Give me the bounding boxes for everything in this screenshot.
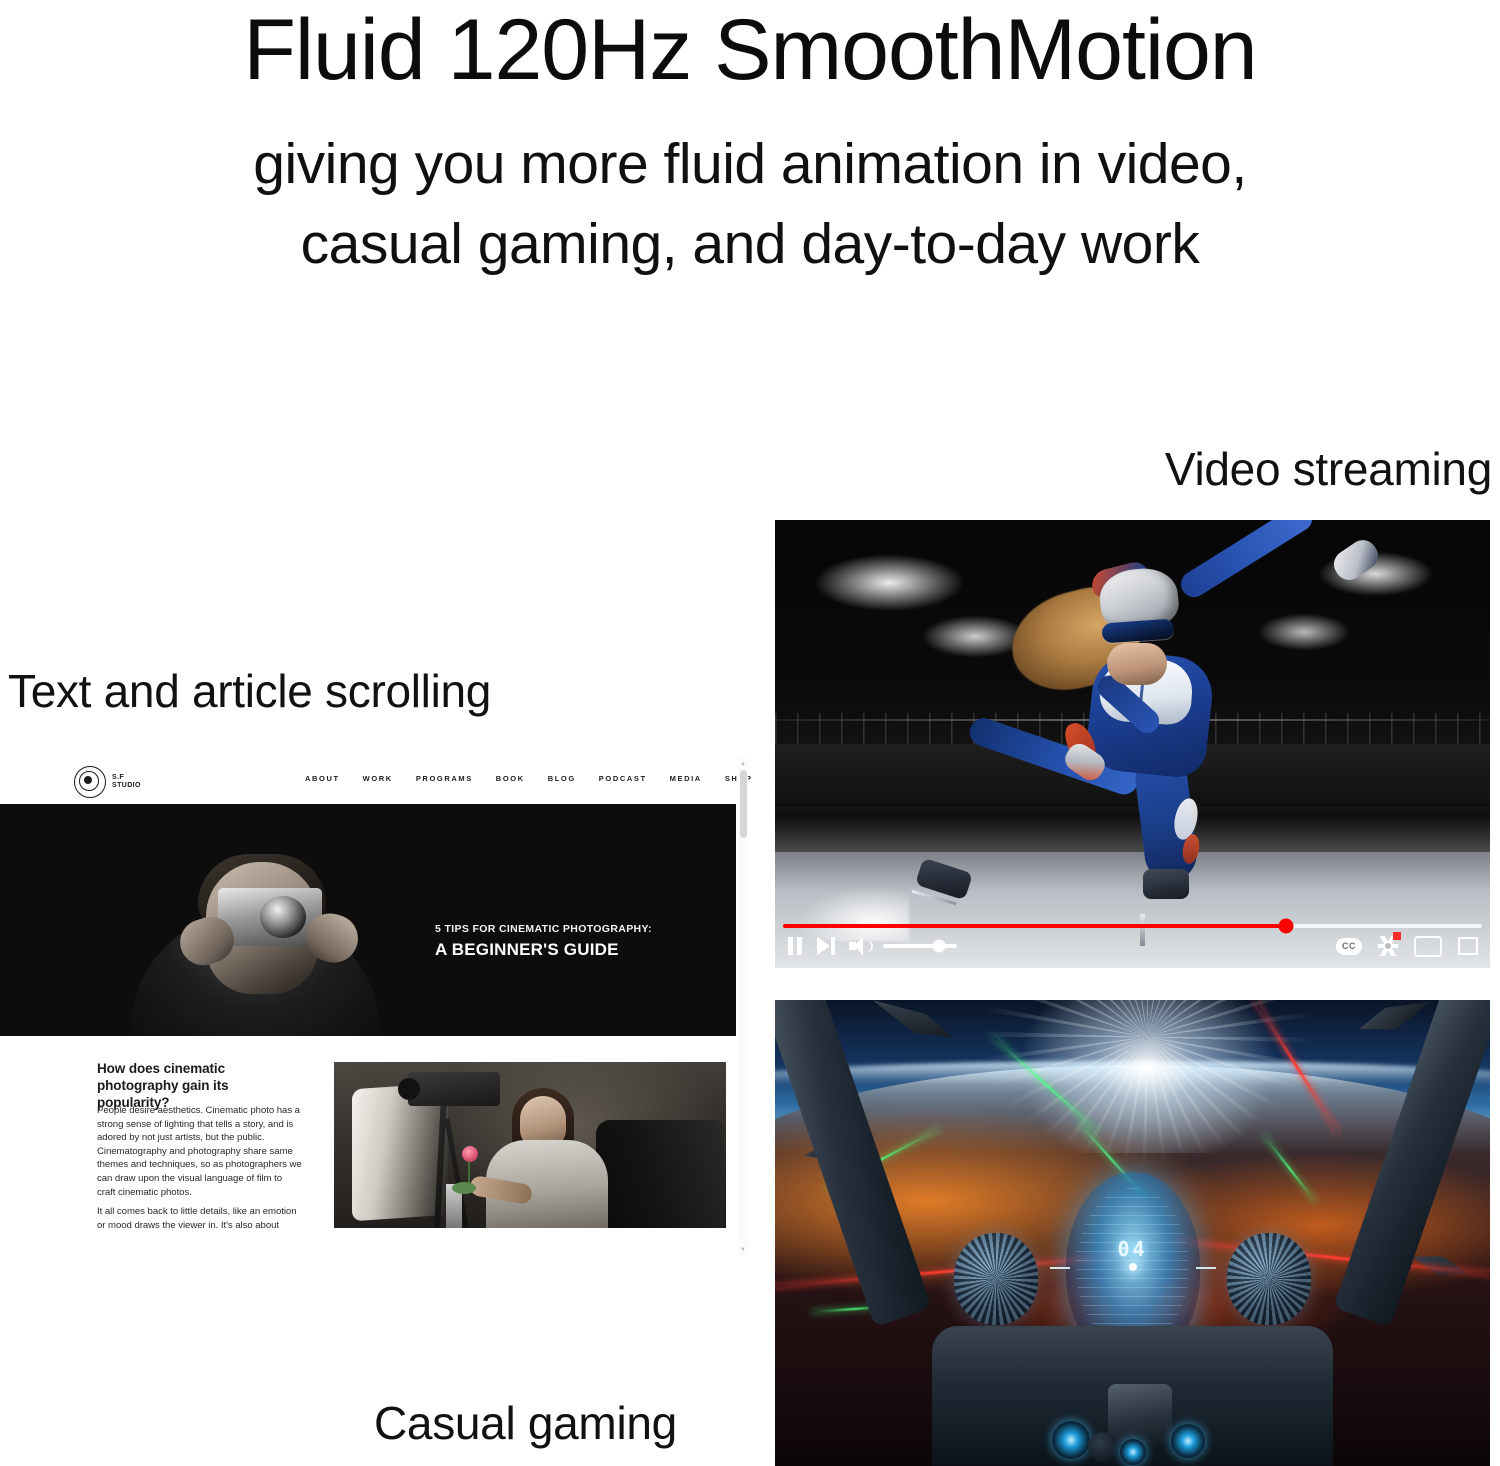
- page-subtitle: giving you more fluid animation in video…: [0, 124, 1500, 284]
- miniplayer-icon[interactable]: [1414, 936, 1442, 957]
- cockpit-pod-right: [1227, 1233, 1311, 1325]
- volume-slider[interactable]: [883, 944, 957, 948]
- caption-video-streaming: Video streaming: [1165, 442, 1492, 496]
- dashboard-dial-1: [1052, 1421, 1090, 1459]
- page-subtitle-line-1: giving you more fluid animation in video…: [0, 124, 1500, 204]
- fullscreen-corner-bl: [1458, 945, 1468, 955]
- closed-captions-icon[interactable]: CC: [1336, 938, 1362, 955]
- video-controls-left: [787, 937, 957, 955]
- skater-raised-glove: [1328, 534, 1383, 585]
- scrollbar-thumb[interactable]: [740, 770, 747, 838]
- volume-wave-icon: [864, 940, 873, 952]
- volume-slider-handle[interactable]: [932, 940, 945, 953]
- site-logo[interactable]: S.F STUDIO: [74, 766, 141, 798]
- site-nav-links: ABOUT WORK PROGRAMS BOOK BLOG PODCAST ME…: [305, 774, 752, 783]
- camera-lens: [260, 896, 306, 938]
- nav-item-about[interactable]: ABOUT: [305, 774, 340, 783]
- skater-goggles: [1102, 618, 1175, 643]
- dashboard-dial-4: [1120, 1439, 1146, 1465]
- scroll-up-arrow-icon[interactable]: ▲: [740, 761, 746, 767]
- concentric-circle-logo-icon: [74, 766, 106, 798]
- softbox-light-right: [596, 1120, 724, 1228]
- gear-center: [1385, 943, 1391, 949]
- video-controls-right: CC: [1336, 936, 1478, 957]
- video-progress-bar[interactable]: [783, 924, 1482, 928]
- studio-photography-photo: [334, 1062, 726, 1228]
- site-logo-text: S.F STUDIO: [112, 774, 141, 791]
- caption-casual-gaming: Casual gaming: [374, 1396, 677, 1450]
- nav-item-blog[interactable]: BLOG: [548, 774, 576, 783]
- flower-leaf: [452, 1182, 476, 1194]
- throttle-control: [1108, 1384, 1172, 1444]
- cockpit-dashboard: [932, 1326, 1332, 1466]
- site-logo-line-2: STUDIO: [112, 782, 141, 791]
- nav-item-podcast[interactable]: PODCAST: [599, 774, 647, 783]
- nav-item-media[interactable]: MEDIA: [670, 774, 702, 783]
- pause-icon[interactable]: [787, 937, 803, 955]
- hero-title: A BEGINNER'S GUIDE: [435, 939, 715, 961]
- volume-icon[interactable]: [849, 937, 869, 955]
- article-hero-banner: 5 TIPS FOR CINEMATIC PHOTOGRAPHY: A BEGI…: [0, 804, 736, 1036]
- video-progress-fill: [783, 924, 1286, 928]
- nav-item-work[interactable]: WORK: [363, 774, 393, 783]
- settings-gear-icon[interactable]: [1378, 936, 1398, 956]
- article-paragraph-2: It all comes back to little details, lik…: [97, 1205, 303, 1232]
- sun-rays: [982, 1000, 1312, 1163]
- skater-face: [1107, 643, 1167, 685]
- skater-raised-arm: [1176, 520, 1317, 602]
- hud-readout-number: 04: [1117, 1237, 1147, 1261]
- site-navigation-bar: S.F STUDIO ABOUT WORK PROGRAMS BOOK BLOG…: [0, 758, 736, 804]
- nav-item-programs[interactable]: PROGRAMS: [416, 774, 473, 783]
- article-scrollbar[interactable]: ▲ ▼: [738, 758, 748, 1256]
- article-paragraph-1: People desire aesthetics. Cinematic phot…: [97, 1104, 303, 1199]
- caption-text-article-scrolling: Text and article scrolling: [8, 664, 491, 718]
- hero-text-block: 5 TIPS FOR CINEMATIC PHOTOGRAPHY: A BEGI…: [435, 922, 715, 961]
- game-screenshot[interactable]: 04: [775, 1000, 1490, 1466]
- skater-right-boot: [1143, 869, 1189, 899]
- settings-new-badge: [1393, 932, 1401, 940]
- fullscreen-corner-br: [1468, 945, 1478, 955]
- fullscreen-icon[interactable]: [1458, 937, 1478, 955]
- video-player[interactable]: CC: [775, 520, 1490, 968]
- scroll-down-arrow-icon[interactable]: ▼: [740, 1247, 746, 1253]
- camera-rig: [408, 1072, 500, 1106]
- hero-kicker: 5 TIPS FOR CINEMATIC PHOTOGRAPHY:: [435, 922, 715, 936]
- nav-item-book[interactable]: BOOK: [496, 774, 525, 783]
- site-logo-line-1: S.F: [112, 774, 141, 783]
- dashboard-dial-2: [1088, 1432, 1118, 1462]
- page-subtitle-line-2: casual gaming, and day-to-day work: [0, 204, 1500, 284]
- hud-targeting-reticle: [1129, 1263, 1137, 1271]
- next-track-icon[interactable]: [817, 937, 835, 955]
- cockpit-pod-left: [954, 1233, 1038, 1325]
- video-controls-bar: CC: [775, 930, 1490, 962]
- page-title: Fluid 120Hz SmoothMotion: [0, 0, 1500, 102]
- hud-tick-left: [1050, 1267, 1070, 1269]
- speed-skater: [775, 520, 1490, 968]
- rose-bloom: [462, 1146, 478, 1162]
- photographer-photo: [110, 810, 440, 1036]
- hud-tick-right: [1196, 1267, 1216, 1269]
- dashboard-dial-3: [1171, 1424, 1205, 1458]
